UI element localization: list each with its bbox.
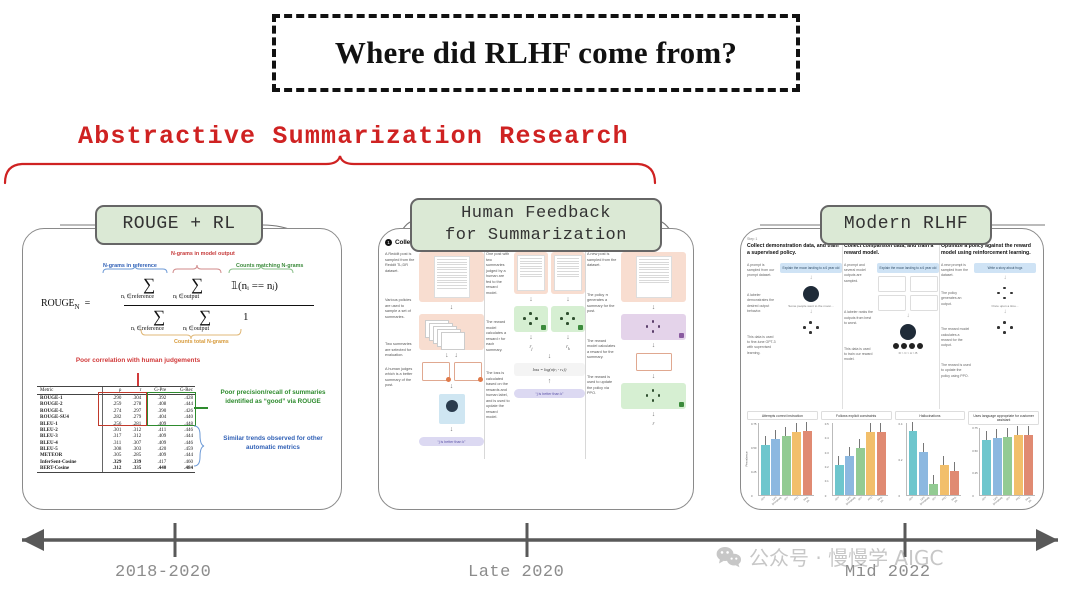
- reward-value: rj: [514, 345, 548, 351]
- bar: [877, 432, 886, 495]
- step-number-badge: 1: [385, 239, 392, 246]
- x-tick-label: GPT: [759, 495, 769, 505]
- step-text: The policy π generates a summary for the…: [587, 293, 617, 315]
- mini-chart: Hallucinations0.40.20GPTGPT (prompted)SF…: [895, 411, 966, 503]
- mini-chart: Follows explicit constraints0.50.40.30.2…: [821, 411, 892, 503]
- bar: [940, 465, 949, 495]
- reward-value: r: [621, 422, 686, 427]
- down-arrow-icon: ↓: [780, 309, 842, 316]
- reward-model-icon: [551, 306, 585, 332]
- bar: [929, 484, 938, 495]
- x-tick-label: GPT: [980, 495, 990, 505]
- bar: [761, 445, 770, 495]
- section-heading: Abstractive Summarization Research: [78, 122, 629, 151]
- mini-chart-plot: 0.50.40.30.20.10: [832, 423, 888, 496]
- x-tick-label: PPO: [940, 495, 950, 505]
- bar-group: [761, 423, 812, 495]
- preference-label: “j is better than k”: [514, 389, 585, 398]
- ranking-label: D > C > A > B: [877, 351, 939, 355]
- step-text: The reward model calculates a reward for…: [941, 327, 971, 349]
- bar: [856, 448, 865, 495]
- timeline-label-3: Mid 2022: [845, 563, 931, 582]
- formula-num-sub2: nⱼ ∈output: [173, 293, 199, 300]
- down-arrow-icon: ↓: [551, 334, 585, 342]
- y-tick-label: 0.2: [899, 458, 903, 462]
- y-tick-label: 0.50: [751, 446, 756, 450]
- prompt-box: Explain the moon landing to a 6 year old: [780, 263, 842, 273]
- x-axis-labels: GPTGPT (prompted)SFTPPOPPO-ptx: [981, 497, 1033, 503]
- column-divider: [939, 243, 940, 409]
- instructgpt-results-charts: Attempts correct instruction0.750.500.25…: [747, 411, 1039, 503]
- bar: [792, 432, 801, 495]
- down-arrow-icon: ↓: [621, 342, 686, 350]
- down-arrow-icon: ↓: [974, 309, 1036, 316]
- p2-column-train-policy-ppo: 3 Train policy with PPO A new post is sa…: [587, 239, 686, 491]
- down-arrow-icon: ↓: [877, 313, 939, 320]
- panel-header-label-line2: for Summarization: [445, 226, 627, 245]
- sampled-outputs: [877, 295, 939, 311]
- mini-chart-title: Uses language appropriate for customer a…: [968, 411, 1039, 425]
- bar: [919, 452, 928, 495]
- mini-chart: Uses language appropriate for customer a…: [968, 411, 1039, 503]
- y-tick-label: 0.25: [751, 470, 756, 474]
- bar: [835, 465, 844, 495]
- y-tick-label: 0: [972, 494, 974, 498]
- prompt-box: Explain the moon landing to a 6 year old: [877, 263, 939, 273]
- slide-canvas: Where did RLHF come from? Abstractive Su…: [0, 0, 1080, 608]
- sampled-outputs: [877, 276, 939, 292]
- step-text: The loss is calculated based on the rewa…: [486, 371, 510, 421]
- step-text: A new prompt is sampled from the dataset…: [941, 263, 971, 279]
- y-tick-label: 0.4: [899, 422, 903, 426]
- panel-header-label: Modern RLHF: [844, 213, 968, 237]
- loss-formula: loss = log(σ(rⱼ - rₖ)): [514, 363, 585, 376]
- y-tick-label: 0.75: [751, 422, 756, 426]
- bar: [782, 436, 791, 495]
- document-illustration: [551, 252, 585, 294]
- mini-chart-plot: 0.40.20: [906, 423, 962, 496]
- rouge-formula: N-grams in reference N-grams in model ou…: [31, 243, 335, 347]
- sft-model-icon: [802, 320, 820, 336]
- table-cell: .440: [143, 466, 168, 472]
- y-tick-label: 0.75: [972, 426, 977, 430]
- y-tick-label: 0.3: [825, 451, 829, 455]
- down-arrow-icon: ↓: [551, 296, 585, 304]
- labeler-icon: [803, 286, 819, 302]
- down-arrow-icon: ↓: [621, 304, 686, 312]
- y-tick-label: 0.25: [972, 471, 977, 475]
- timeline-label-1: 2018-2020: [115, 563, 211, 582]
- bar: [845, 456, 854, 495]
- bar: [1003, 437, 1012, 495]
- page-title: Where did RLHF come from?: [335, 35, 737, 71]
- y-tick-label: 0.50: [972, 449, 977, 453]
- x-tick-label: PPO-ptx: [950, 495, 960, 505]
- document-illustration: [514, 252, 548, 294]
- mini-chart-plot: 0.750.500.250Prevalence: [758, 423, 814, 496]
- note-similar-trends: Similar trends observed for other automa…: [209, 435, 337, 453]
- y-tick-label: 0: [751, 494, 753, 498]
- document-illustration: [621, 252, 686, 302]
- col-metric: Metric: [37, 387, 103, 395]
- p3-column-step3: Step 3 Optimize a policy against the rew…: [941, 237, 1036, 379]
- formula-sigma: ∑: [143, 275, 155, 295]
- down-arrow-icon: ↓: [419, 383, 484, 391]
- y-tick-label: 0.1: [825, 479, 829, 483]
- timeline-label-2: Late 2020: [468, 563, 564, 582]
- column-divider: [585, 247, 586, 459]
- x-tick-label: PPO-ptx: [876, 495, 886, 505]
- panel-human-feedback[interactable]: 1 Collect human feedback A Reddit post i…: [378, 228, 694, 510]
- table-cell: .312: [103, 466, 124, 472]
- bar: [909, 431, 918, 495]
- note-poor-correlation: Poor correlation with human judgements: [63, 357, 213, 366]
- bar: [803, 431, 812, 495]
- mini-chart-plot: 0.750.500.250: [979, 428, 1035, 496]
- mini-chart: Attempts correct instruction0.750.500.25…: [747, 411, 818, 503]
- mini-chart-title: Follows explicit constraints: [821, 411, 892, 420]
- fraction-bar: [124, 305, 314, 306]
- down-arrow-icon: ↓: [974, 275, 1036, 282]
- step-text: The reward model calculates a reward r f…: [486, 320, 510, 353]
- bar-group: [909, 423, 960, 495]
- labeler-icon: [900, 324, 916, 340]
- y-tick-label: 0: [899, 494, 901, 498]
- p2-column-train-reward-model: 2 Train reward model One post with two s…: [486, 239, 585, 491]
- document-illustration: [419, 252, 484, 302]
- preference-label: “j is better than k”: [419, 437, 484, 446]
- step-text: This data is used to fine-tune GPT-3 wit…: [747, 335, 777, 357]
- formula-sigma: ∑: [199, 307, 211, 327]
- prompt-box: Write a story about frogs: [974, 263, 1036, 273]
- table-cell: .335: [123, 466, 143, 472]
- summary-card: [422, 362, 450, 381]
- step-text: The reward is used to update the policy …: [941, 363, 971, 379]
- human-labeler-icon: [439, 394, 465, 424]
- down-arrow-icon: ↓: [780, 275, 842, 282]
- down-arrow-icon: ↓: [514, 296, 548, 304]
- y-tick-label: 0.5: [825, 422, 829, 426]
- table-cell: ROUGE-1: [37, 395, 103, 402]
- reward-model-icon: [996, 320, 1014, 336]
- x-tick-label: SFT: [930, 495, 940, 505]
- x-axis-labels: GPTGPT (prompted)SFTPPOPPO-ptx: [834, 497, 886, 503]
- panel-header-human-feedback[interactable]: Human Feedback for Summarization: [410, 198, 662, 252]
- p2-column-collect-feedback: 1 Collect human feedback A Reddit post i…: [385, 239, 484, 491]
- x-tick-label: PPO: [1014, 495, 1024, 505]
- generated-summary-box: [636, 353, 672, 371]
- bar: [1014, 435, 1023, 495]
- step-text: Various policies are used to sample a se…: [385, 298, 415, 320]
- table-cell: .484: [168, 466, 195, 472]
- step-text: A human judges which is a better summary…: [385, 367, 415, 389]
- title-box: Where did RLHF come from?: [272, 14, 800, 92]
- formula-den-sub2: nⱼ ∈output: [183, 325, 209, 332]
- formula-indicator: 𝟙(nᵢ == nⱼ): [231, 279, 278, 292]
- down-arrow-icon: ↓: [514, 353, 585, 361]
- reward-model-icon: [514, 306, 548, 332]
- bar: [866, 432, 875, 495]
- policy-model-icon: [996, 286, 1014, 302]
- step-text: The reward model calculates a reward for…: [587, 339, 617, 361]
- highlight-box-rho-r: [98, 392, 147, 426]
- x-tick-label: PPO-ptx: [1024, 495, 1034, 505]
- step-text: A prompt and several model outputs are s…: [844, 263, 874, 285]
- panel-header-modern-rlhf[interactable]: Modern RLHF: [820, 205, 992, 245]
- table-row: BERT-Cosine.312.335.440.484: [37, 466, 195, 472]
- blue-brace: [193, 425, 205, 467]
- up-arrow-icon: ↑: [514, 378, 585, 386]
- p3-column-step1: Step 1 Collect demonstration data, and t…: [747, 237, 842, 356]
- step-text: Two summaries are selected for evaluatio…: [385, 342, 415, 359]
- policy-model-icon: [621, 314, 686, 340]
- panel-modern-rlhf[interactable]: Step 1 Collect demonstration data, and t…: [740, 228, 1044, 510]
- note-poor-precision-recall: Poor precision/recall of summaries ident…: [209, 389, 337, 407]
- down-arrow-icon: ↓: [621, 373, 686, 381]
- column-divider: [842, 243, 843, 409]
- bar-group: [982, 428, 1033, 495]
- bar: [993, 438, 1002, 495]
- formula-sigma: ∑: [153, 307, 165, 327]
- step-text: A labeler ranks the outputs from best to…: [844, 310, 874, 326]
- green-pointer-line: [194, 407, 208, 409]
- formula-lhs: ROUGEN =: [41, 298, 90, 311]
- panel-header-rouge-rl[interactable]: ROUGE + RL: [95, 205, 263, 245]
- panel-header-label: ROUGE + RL: [122, 213, 235, 237]
- x-axis-labels: GPTGPT (prompted)SFTPPOPPO-ptx: [908, 497, 960, 503]
- step-text: One post with two summaries judged by a …: [486, 252, 510, 296]
- step-text: A Reddit post is sampled from the Reddit…: [385, 252, 415, 274]
- down-arrow-icon: ↓: [419, 304, 484, 312]
- bar: [950, 471, 959, 495]
- mini-chart-title: Attempts correct instruction: [747, 411, 818, 420]
- y-tick-label: 0: [825, 494, 827, 498]
- formula-den-sub1: nᵢ ∈reference: [131, 325, 164, 332]
- reward-value: rk: [551, 345, 585, 351]
- summary-card: [454, 362, 482, 381]
- formula-num-sub1: nᵢ ∈reference: [121, 293, 154, 300]
- ranking-icons: [877, 343, 939, 349]
- panel-rouge-rl[interactable]: N-grams in reference N-grams in model ou…: [22, 228, 342, 510]
- highlight-box-gpre-grec: [147, 392, 196, 426]
- step-text: A prompt is sampled from our prompt data…: [747, 263, 777, 279]
- x-tick-label: GPT: [833, 495, 843, 505]
- timeline-axis: [0, 520, 1080, 560]
- x-axis-labels: GPTGPT (prompted)SFTPPOPPO-ptx: [760, 497, 812, 503]
- formula-one: 1: [243, 311, 249, 323]
- step-text: A new post is sampled from the dataset.: [587, 252, 617, 269]
- step-text: The reward is used to update the policy …: [587, 375, 617, 397]
- column-divider: [484, 247, 485, 459]
- mini-chart-title: Hallucinations: [895, 411, 966, 420]
- bar: [1024, 435, 1033, 495]
- down-arrow-icon: ↓: [621, 411, 686, 419]
- bar: [982, 440, 991, 495]
- x-tick-label: GPT: [907, 495, 917, 505]
- step-text: This data is used to train our reward mo…: [844, 347, 874, 363]
- down-arrow-icon: ↓ ↓: [419, 352, 484, 360]
- summary-stack-illustration: [419, 314, 484, 350]
- reward-model-icon: [621, 383, 686, 409]
- panel-header-label-line1: Human Feedback: [461, 204, 611, 223]
- bar-group: [835, 423, 886, 495]
- y-tick-label: 0.2: [825, 465, 829, 469]
- y-axis-label: Prevalence: [745, 452, 749, 467]
- x-tick-label: SFT: [856, 495, 866, 505]
- generated-output-caption: Once upon a time...: [974, 304, 1036, 308]
- step-text: The policy generates an output.: [941, 291, 971, 307]
- x-tick-label: SFT: [1004, 495, 1014, 505]
- bar: [771, 439, 780, 495]
- down-arrow-icon: ↓: [514, 334, 548, 342]
- table-cell: BERT-Cosine: [37, 466, 103, 472]
- step-text: A labeler demonstrates the desired outpu…: [747, 293, 777, 315]
- x-tick-label: PPO-ptx: [802, 495, 812, 505]
- formula-sigma: ∑: [191, 275, 203, 295]
- p3-column-step2: Step 2 Collect comparison data, and trai…: [844, 237, 939, 363]
- down-arrow-icon: ↓: [419, 426, 484, 434]
- demonstration-caption: Some people went to the moon...: [780, 304, 842, 308]
- y-tick-label: 0.4: [825, 436, 829, 440]
